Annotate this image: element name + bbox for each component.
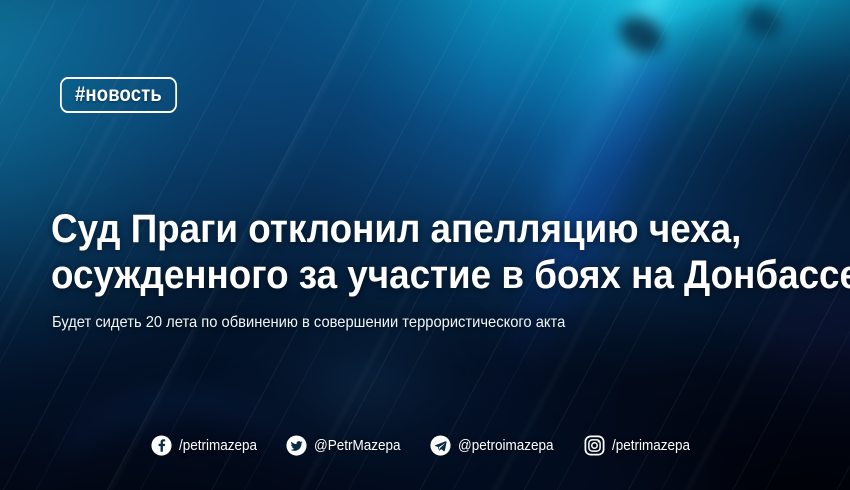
headline-line-1: Суд Праги отклонил апелляцию чеха, [51,206,695,252]
social-link-twitter[interactable]: @PetrMazepa [286,435,410,456]
subtitle: Будет сидеть 20 лета по обвинению в сове… [52,313,565,333]
page-title: Суд Праги отклонил апелляцию чеха, осужд… [51,206,695,298]
instagram-handle: /petrimazepa [612,437,690,454]
tag-badge[interactable]: #новость [60,77,177,113]
social-link-facebook[interactable]: /petrimazepa [151,435,266,456]
headline-line-2: осужденного за участие в боях на Донбасс… [51,252,695,298]
instagram-icon [584,435,605,456]
social-link-instagram[interactable]: /petrimazepa [584,435,699,456]
social-link-telegram[interactable]: @petroimazepa [430,435,564,456]
twitter-icon [286,435,307,456]
news-card: #новость Суд Праги отклонил апелляцию че… [0,0,850,490]
facebook-icon [151,435,172,456]
telegram-icon [430,435,451,456]
social-bar: /petrimazepa @PetrMazepa [0,435,850,456]
twitter-handle: @PetrMazepa [314,437,400,454]
card-content: #новость Суд Праги отклонил апелляцию че… [0,0,850,490]
telegram-handle: @petroimazepa [458,437,554,454]
facebook-handle: /petrimazepa [179,437,257,454]
